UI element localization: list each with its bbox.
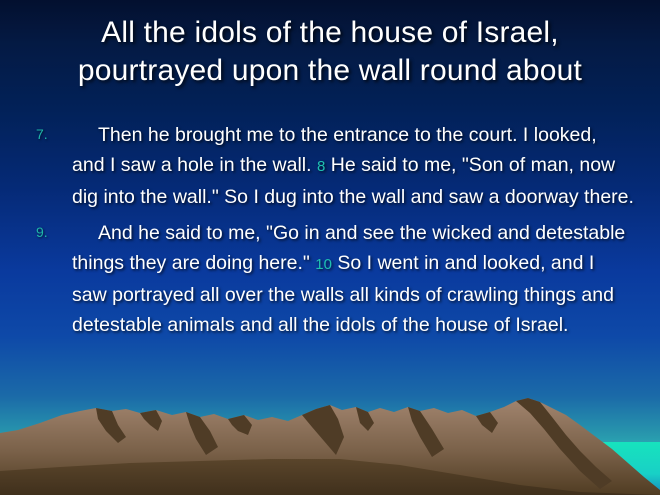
bullet-paragraph-9: 9. And he said to me, "Go in and see the… xyxy=(26,218,634,340)
inline-verse-number-10: 10 xyxy=(315,256,332,273)
slide-body: 7. Then he brought me to the entrance to… xyxy=(26,120,634,346)
slide: All the idols of the house of Israel, po… xyxy=(0,0,660,495)
bullet-paragraph-7: 7. Then he brought me to the entrance to… xyxy=(26,120,634,212)
slide-title: All the idols of the house of Israel, po… xyxy=(0,14,660,90)
verse-marker-9: 9. xyxy=(36,221,66,243)
verse-marker-7: 7. xyxy=(36,123,66,145)
mountain-landscape-graphic xyxy=(0,385,660,495)
